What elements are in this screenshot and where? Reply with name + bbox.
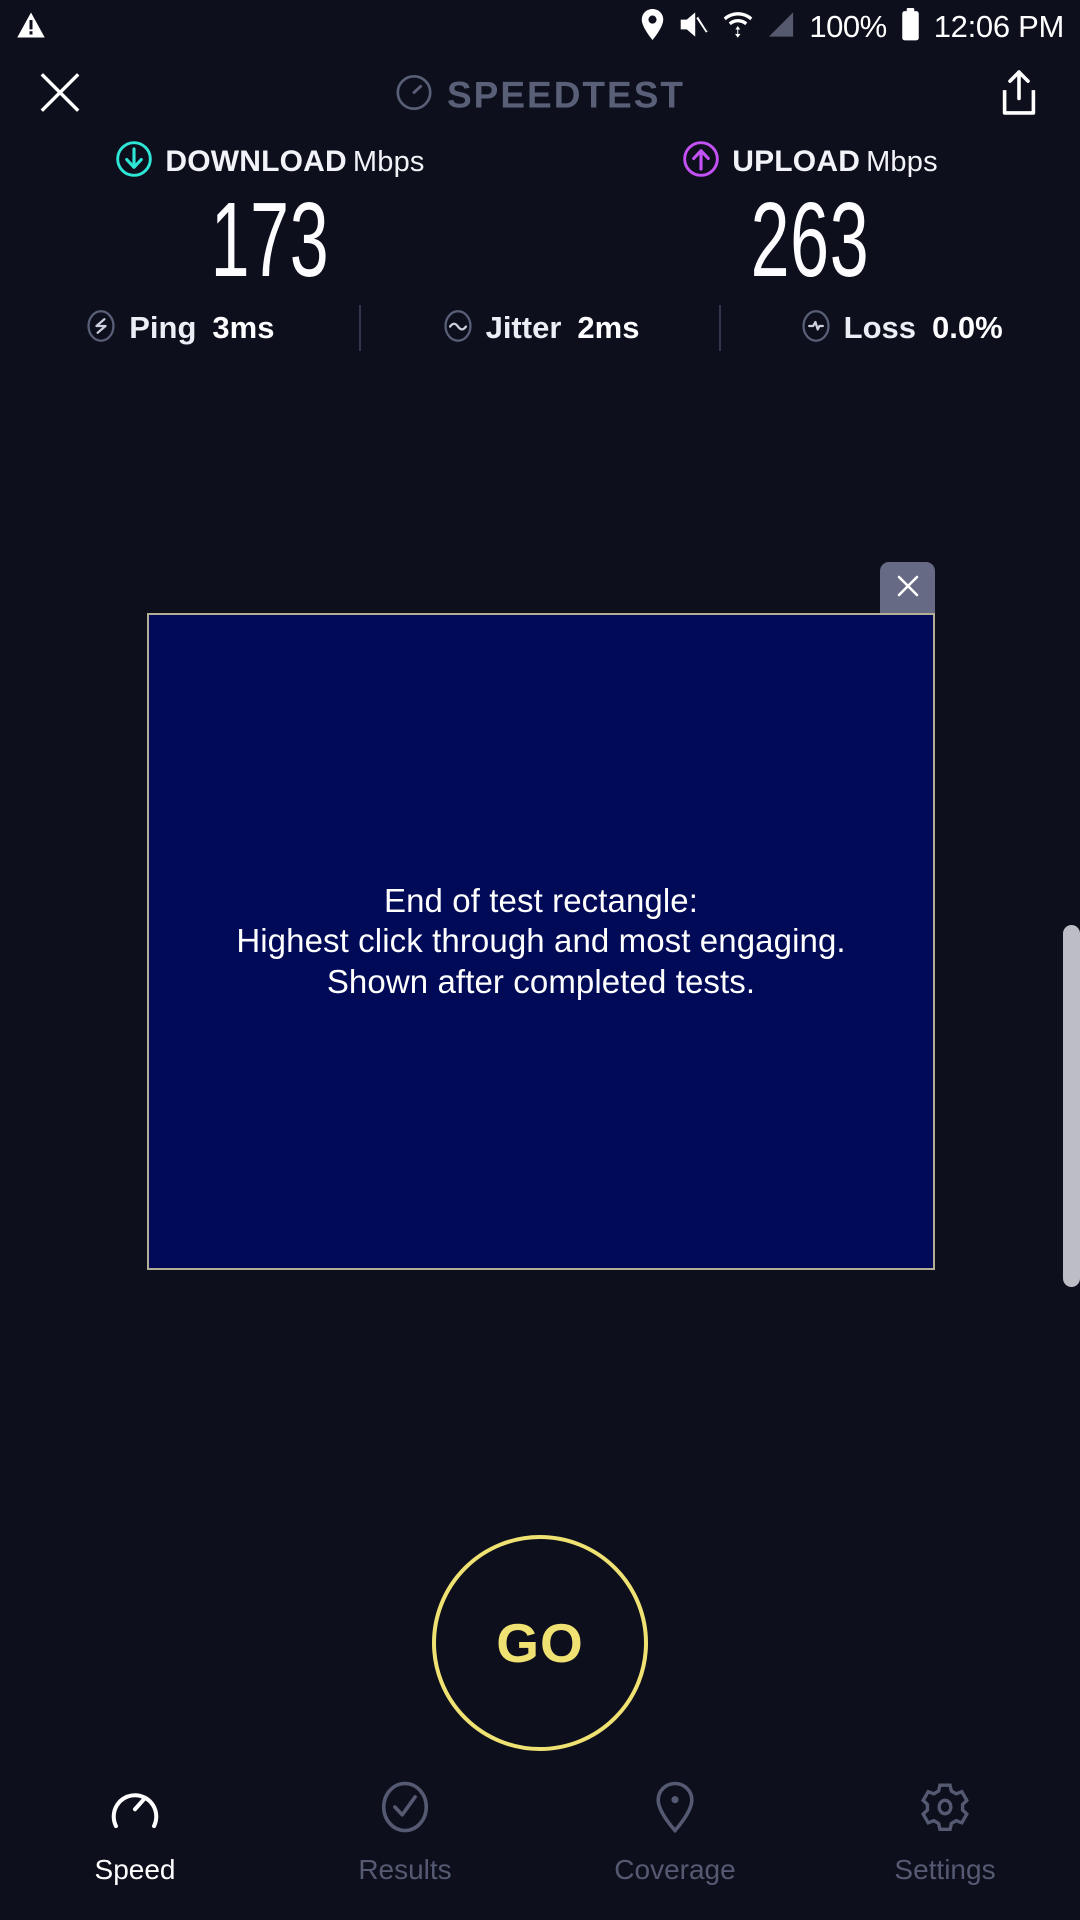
latency-stats-row: Ping 3ms Jitter 2ms [0,303,1080,353]
nav-item-settings[interactable]: Settings [810,1779,1080,1886]
status-bar-right: 100% 12:06 PM [640,8,1064,46]
nav-item-coverage[interactable]: Coverage [540,1779,810,1886]
download-value: 173 [211,187,330,293]
upload-value: 263 [751,187,870,293]
ad-close-button[interactable] [880,562,935,614]
loss-icon [799,309,833,348]
upload-arrow-icon [682,140,720,183]
speedometer-icon [107,1779,163,1840]
download-metric: DOWNLOADMbps 173 [0,140,540,293]
close-icon[interactable] [38,71,82,120]
loss-slot: Loss 0.0% [721,309,1080,348]
ping-slot: Ping 3ms [0,309,359,348]
battery-full-icon [900,8,921,46]
warning-triangle-icon [16,11,46,44]
speedometer-icon [395,74,433,117]
status-bar: 100% 12:06 PM [0,0,1080,54]
loss-label: Loss [844,310,916,346]
speed-results-row: DOWNLOADMbps 173 UPLOADMbps 263 [0,140,1080,293]
ping-icon [84,309,118,348]
nav-item-speed[interactable]: Speed [0,1779,270,1886]
upload-metric: UPLOADMbps 263 [540,140,1080,293]
go-button[interactable]: GO [432,1535,648,1751]
share-icon[interactable] [998,69,1040,122]
jitter-stat: Jitter 2ms [441,309,640,348]
jitter-value: 2ms [577,310,639,346]
ping-stat: Ping 3ms [84,309,274,348]
jitter-slot: Jitter 2ms [361,309,720,348]
cellular-signal-icon [766,10,796,44]
jitter-label: Jitter [486,310,562,346]
download-label: DOWNLOADMbps [165,145,424,179]
gear-icon [917,1779,973,1840]
ad-text: End of test rectangle: Highest click thr… [236,881,845,1002]
bottom-navigation: Speed Results Coverage [0,1765,1080,1920]
nav-label-results: Results [358,1854,451,1886]
location-pin-icon [640,9,665,45]
page-scrollbar[interactable] [1063,925,1080,1287]
loss-value: 0.0% [932,310,1003,346]
location-pin-icon [647,1779,703,1840]
download-arrow-icon [115,140,153,183]
app-header: SPEEDTEST [0,56,1080,134]
jitter-icon [441,309,475,348]
volume-mute-icon [678,10,710,44]
download-header: DOWNLOADMbps [115,140,424,183]
nav-label-settings: Settings [894,1854,995,1886]
go-button-label: GO [496,1611,584,1675]
brand-logo: SPEEDTEST [395,74,685,117]
loss-stat: Loss 0.0% [799,309,1003,348]
brand-title: SPEEDTEST [447,74,685,116]
ping-label: Ping [129,310,196,346]
nav-label-coverage: Coverage [614,1854,735,1886]
nav-label-speed: Speed [95,1854,176,1886]
ping-value: 3ms [212,310,274,346]
clock-label: 12:06 PM [934,9,1064,45]
upload-header: UPLOADMbps [682,140,938,183]
status-bar-left [16,11,46,44]
ad-close-icon [893,571,923,606]
advertisement-banner[interactable]: End of test rectangle: Highest click thr… [147,613,935,1270]
wifi-icon [723,9,753,45]
nav-item-results[interactable]: Results [270,1779,540,1886]
upload-label: UPLOADMbps [732,145,938,179]
results-panel: DOWNLOADMbps 173 UPLOADMbps 263 [0,140,1080,293]
battery-percent-label: 100% [809,9,886,45]
speedtest-app-screen: 100% 12:06 PM SPEEDTEST [0,0,1080,1920]
check-circle-icon [377,1779,433,1840]
